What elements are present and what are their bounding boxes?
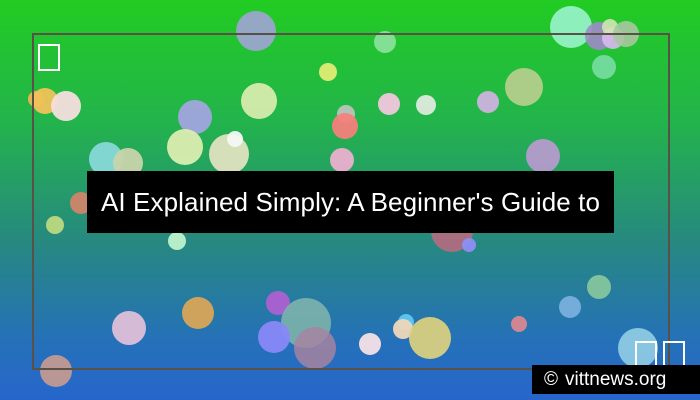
title-banner: AI Explained Simply: A Beginner's Guide … [87,171,614,233]
top-left-square-marker [38,44,60,71]
bottom-right-bracket-left [635,341,657,367]
watermark-badge: © vittnews.org [532,365,700,394]
watermark-label: vittnews.org [565,370,666,389]
title-text: AI Explained Simply: A Beginner's Guide … [101,188,600,217]
image-canvas: AI Explained Simply: A Beginner's Guide … [0,0,700,400]
copyright-icon: © [544,370,558,389]
bottom-right-bracket-right [663,341,685,367]
